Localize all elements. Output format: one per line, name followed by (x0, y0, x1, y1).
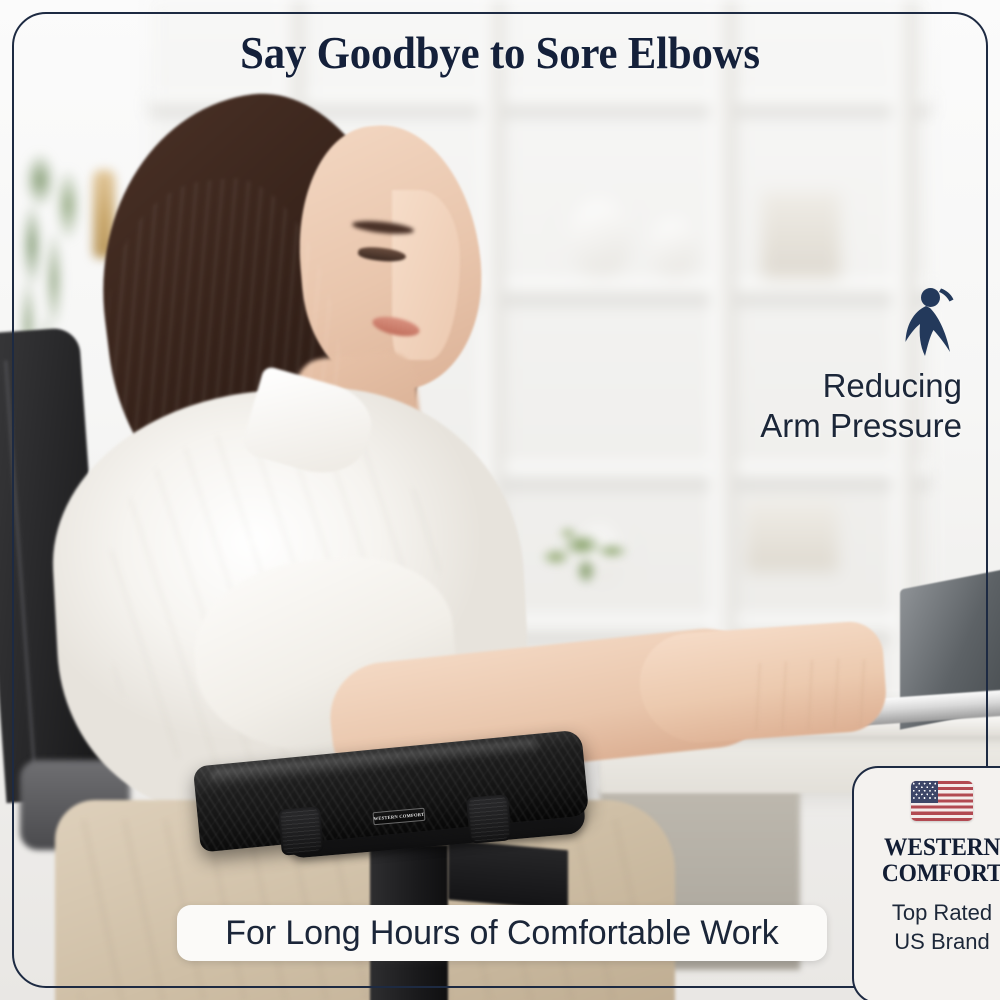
badge-subtitle: Top Rated US Brand (892, 898, 992, 956)
badge-sub-line-2: US Brand (892, 927, 992, 956)
feature-line-2: Arm Pressure (662, 406, 962, 446)
flag-stars (911, 781, 938, 803)
product-ad-image: WESTERN COMFORT Say Goodbye to Sore Elbo… (0, 0, 1000, 1000)
badge-brand-line-2: COMFORT (882, 861, 1000, 887)
badge-brand-name: WESTERN COMFORT (882, 835, 1000, 888)
trust-badge: WESTERN COMFORT Top Rated US Brand (852, 766, 1000, 1000)
wellness-person-icon (900, 284, 956, 358)
shelf-plant-decor (520, 505, 660, 615)
lifestyle-photo: WESTERN COMFORT (0, 0, 1000, 1000)
cushion-strap-left (278, 806, 324, 855)
feature-callout: Reducing Arm Pressure (662, 284, 962, 447)
feature-line-1: Reducing (662, 366, 962, 406)
bottom-tagline-text: For Long Hours of Comfortable Work (225, 914, 778, 953)
product-brand-tag-text: WESTERN COMFORT (373, 812, 424, 821)
chair-armrest-bracket (448, 840, 568, 910)
woman-fingers (733, 656, 886, 734)
cushion-strap-right (466, 794, 512, 843)
badge-brand-line-1: WESTERN (882, 835, 1000, 861)
badge-sub-line-1: Top Rated (892, 898, 992, 927)
bottom-tagline-banner: For Long Hours of Comfortable Work (177, 905, 827, 961)
us-flag-icon (911, 781, 973, 821)
page-title: Say Goodbye to Sore Elbows (35, 26, 965, 79)
